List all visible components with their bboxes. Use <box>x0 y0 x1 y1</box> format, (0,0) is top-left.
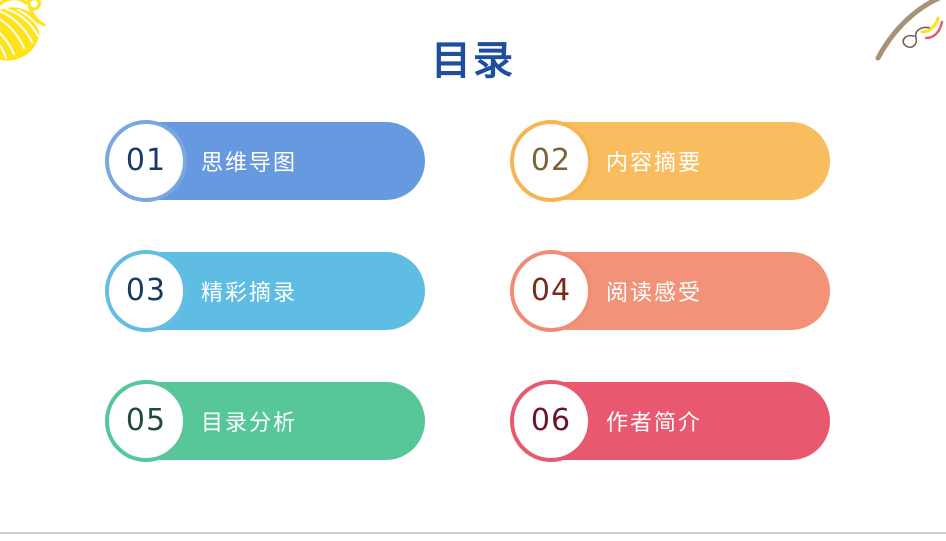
slide-canvas: 目录 思维导图 01 内容摘要 02 精彩摘录 <box>0 0 946 541</box>
contents-item-label-05: 目录分析 <box>201 380 297 462</box>
contents-item-number-05: 05 <box>126 406 166 436</box>
contents-row-2: 精彩摘录 03 阅读感受 04 <box>0 250 946 380</box>
contents-item-03[interactable]: 精彩摘录 03 <box>105 250 525 350</box>
contents-row-3: 目录分析 05 作者简介 06 <box>0 380 946 510</box>
contents-item-badge-01: 01 <box>105 120 187 202</box>
contents-item-number-03: 03 <box>126 276 166 306</box>
bottom-divider <box>0 532 946 534</box>
contents-item-badge-04: 04 <box>510 250 592 332</box>
contents-item-04[interactable]: 阅读感受 04 <box>510 250 930 350</box>
contents-item-badge-05: 05 <box>105 380 187 462</box>
contents-item-number-01: 01 <box>126 146 166 176</box>
contents-item-label-03: 精彩摘录 <box>201 250 297 332</box>
contents-item-label-04: 阅读感受 <box>606 250 702 332</box>
contents-item-label-01: 思维导图 <box>201 120 297 202</box>
contents-item-number-04: 04 <box>531 276 571 306</box>
contents-item-label-06: 作者简介 <box>606 380 702 462</box>
contents-item-label-02: 内容摘要 <box>606 120 702 202</box>
contents-item-06[interactable]: 作者简介 06 <box>510 380 930 480</box>
contents-item-badge-02: 02 <box>510 120 592 202</box>
contents-item-number-06: 06 <box>531 406 571 436</box>
contents-item-05[interactable]: 目录分析 05 <box>105 380 525 480</box>
contents-item-01[interactable]: 思维导图 01 <box>105 120 525 220</box>
contents-item-number-02: 02 <box>531 146 571 176</box>
contents-item-badge-06: 06 <box>510 380 592 462</box>
contents-item-02[interactable]: 内容摘要 02 <box>510 120 930 220</box>
page-title: 目录 <box>0 38 946 84</box>
contents-row-1: 思维导图 01 内容摘要 02 <box>0 120 946 250</box>
contents-list: 思维导图 01 内容摘要 02 精彩摘录 03 <box>0 120 946 510</box>
contents-item-badge-03: 03 <box>105 250 187 332</box>
